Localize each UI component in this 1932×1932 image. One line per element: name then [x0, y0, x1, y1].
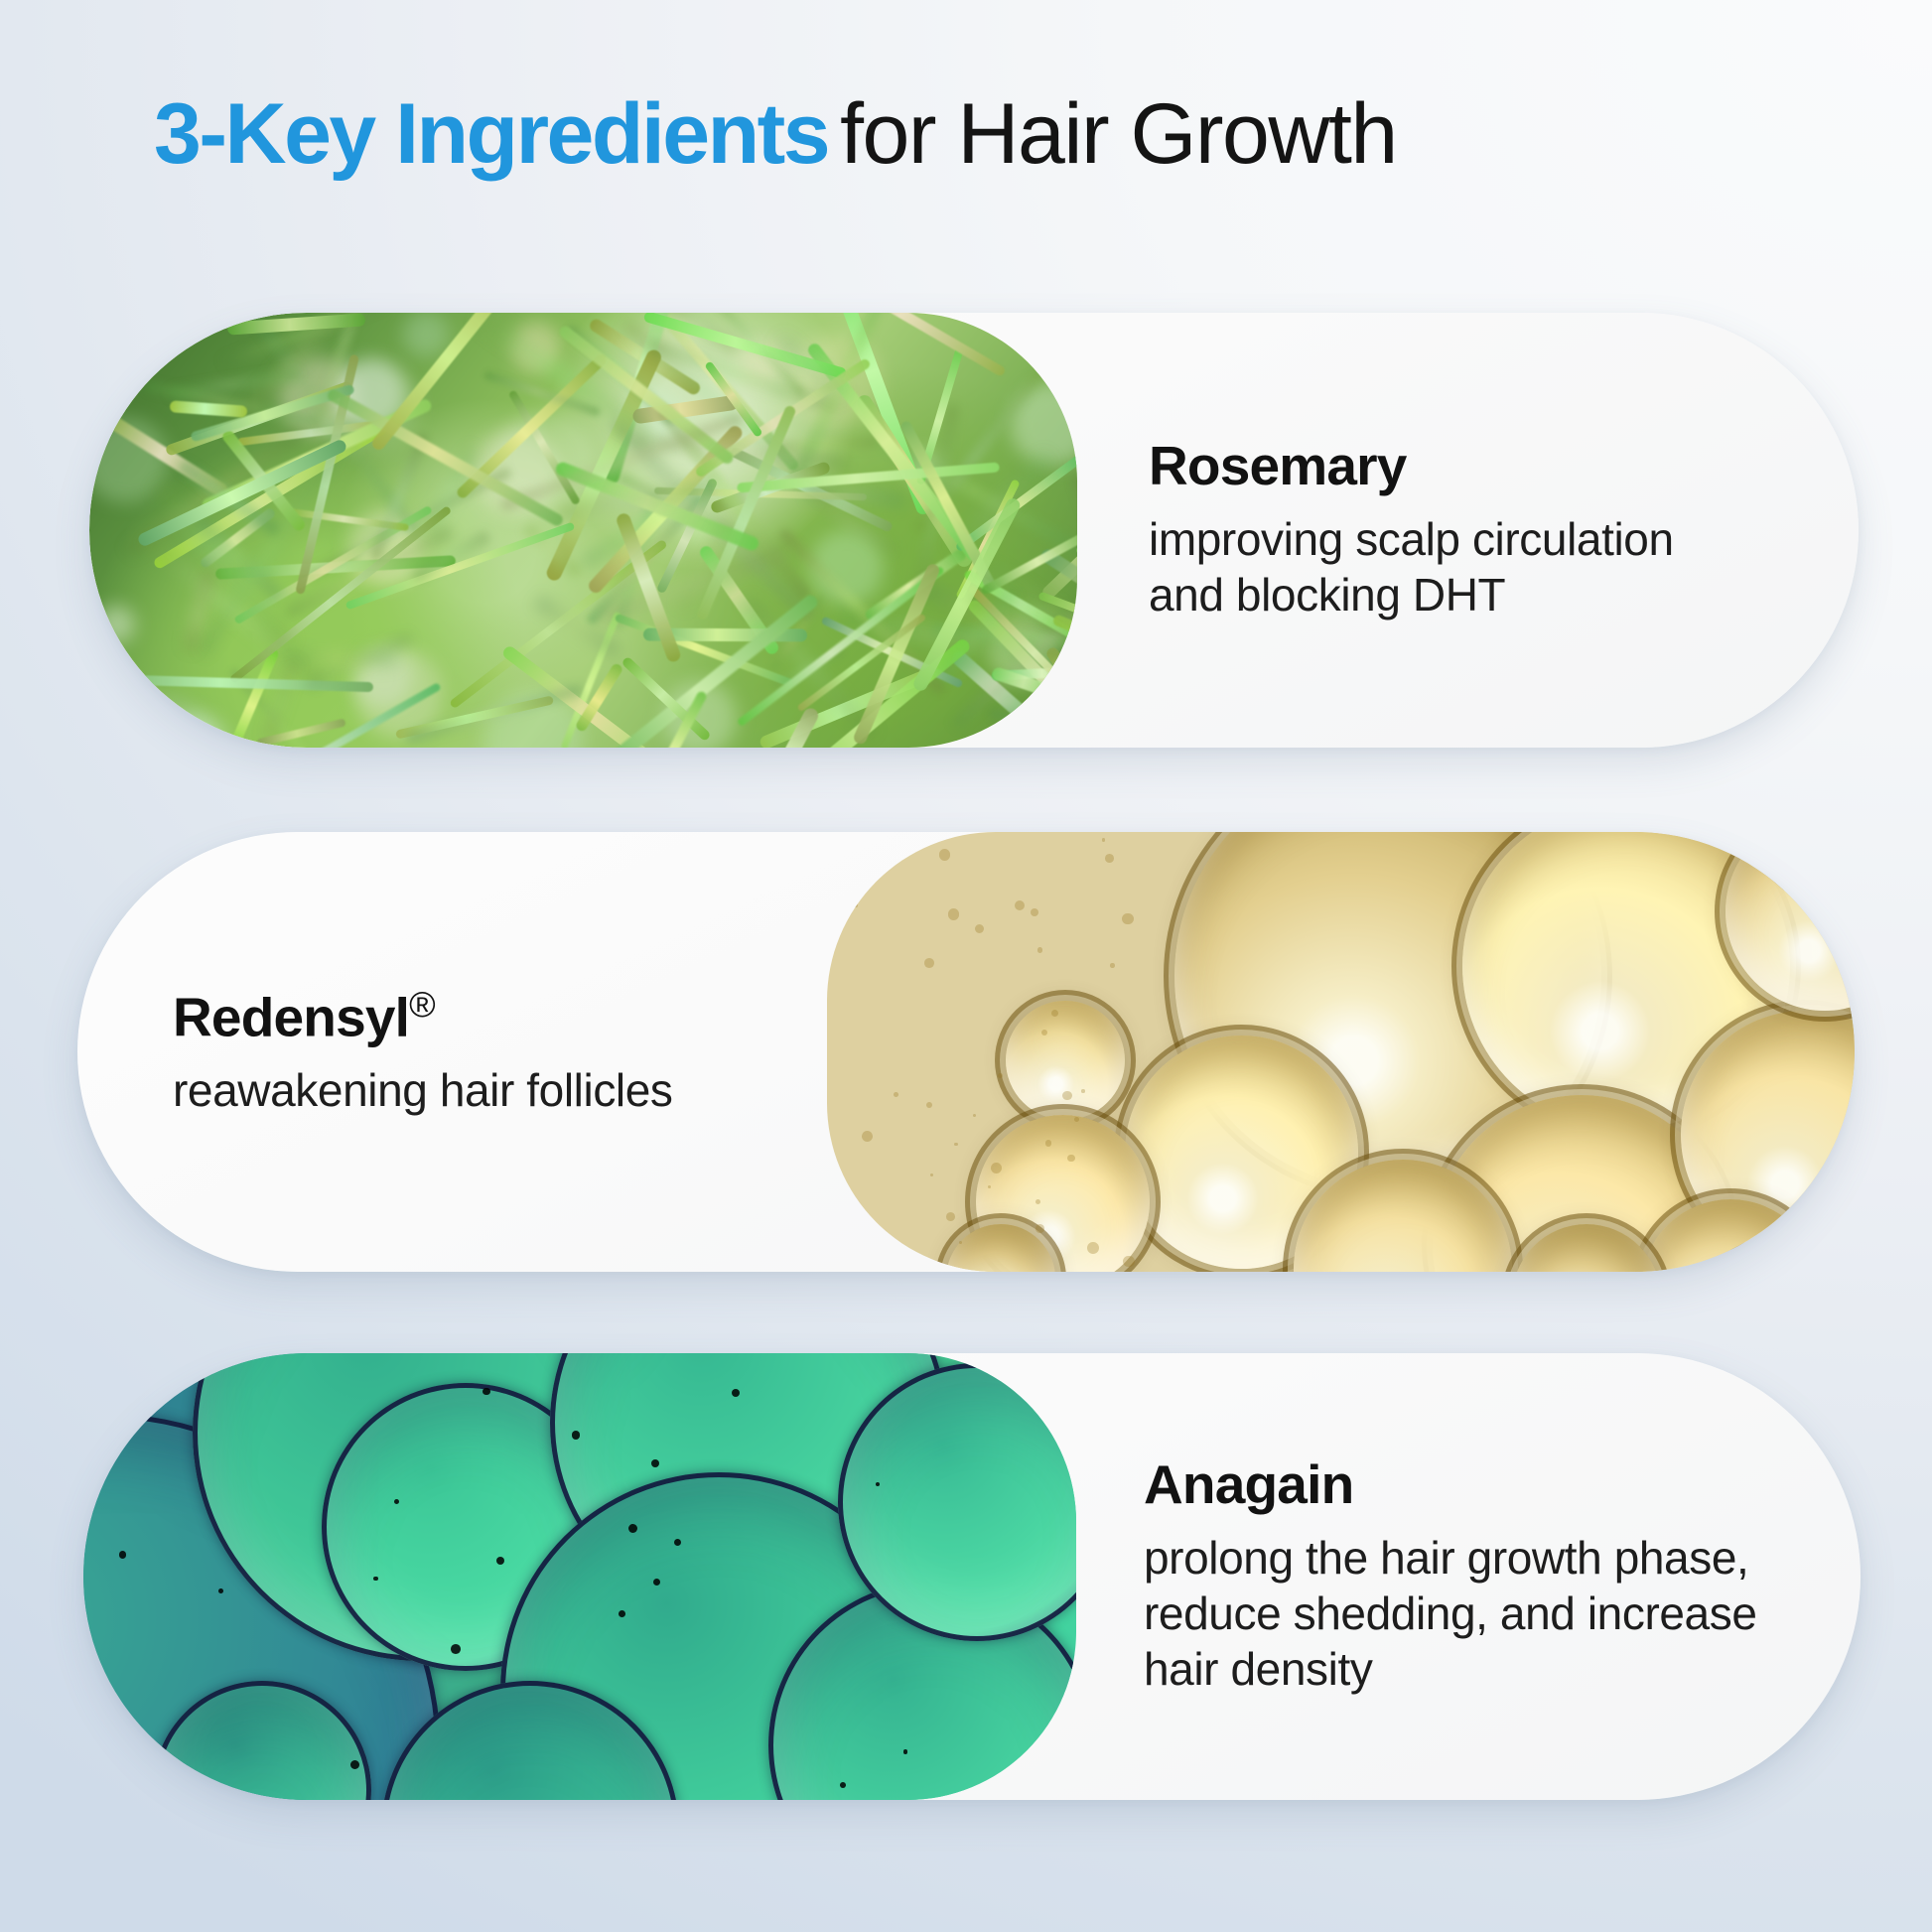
rosemary-text-pane: Rosemary improving scalp circulation and…	[1077, 313, 1859, 748]
rosemary-desc-line-2: and blocking DHT	[1149, 567, 1799, 622]
anagain-desc-line-2: reduce shedding, and increase	[1144, 1586, 1803, 1641]
rosemary-desc-line-1: improving scalp circulation	[1149, 511, 1799, 567]
rosemary-description: improving scalp circulation and blocking…	[1149, 511, 1799, 622]
page-title: 3-Key Ingredientsfor Hair Growth	[154, 91, 1397, 177]
ingredient-card-anagain[interactable]: Anagain prolong the hair growth phase, r…	[83, 1353, 1861, 1800]
anagain-desc-line-3: hair density	[1144, 1641, 1803, 1697]
ingredient-card-rosemary[interactable]: Rosemary improving scalp circulation and…	[89, 313, 1859, 748]
golden-oil-bubbles-photo	[827, 832, 1855, 1272]
anagain-title: Anagain	[1144, 1456, 1803, 1514]
registered-trademark-icon: ®	[409, 984, 436, 1025]
teal-bubbles-photo	[83, 1353, 1076, 1800]
redensyl-text-pane: Redensyl® reawakening hair follicles	[77, 832, 827, 1272]
page-title-rest: for Hair Growth	[840, 86, 1397, 182]
ingredient-card-redensyl[interactable]: Redensyl® reawakening hair follicles	[77, 832, 1855, 1272]
anagain-desc-line-1: prolong the hair growth phase,	[1144, 1530, 1803, 1586]
redensyl-desc-line-1: reawakening hair follicles	[173, 1062, 787, 1118]
redensyl-title-text: Redensyl	[173, 986, 409, 1047]
page-title-accent: 3-Key Ingredients	[154, 86, 828, 182]
rosemary-title: Rosemary	[1149, 438, 1799, 495]
redensyl-title: Redensyl®	[173, 986, 787, 1046]
redensyl-description: reawakening hair follicles	[173, 1062, 787, 1118]
anagain-description: prolong the hair growth phase, reduce sh…	[1144, 1530, 1803, 1697]
anagain-text-pane: Anagain prolong the hair growth phase, r…	[1076, 1353, 1861, 1800]
rosemary-plant-photo	[89, 313, 1077, 748]
